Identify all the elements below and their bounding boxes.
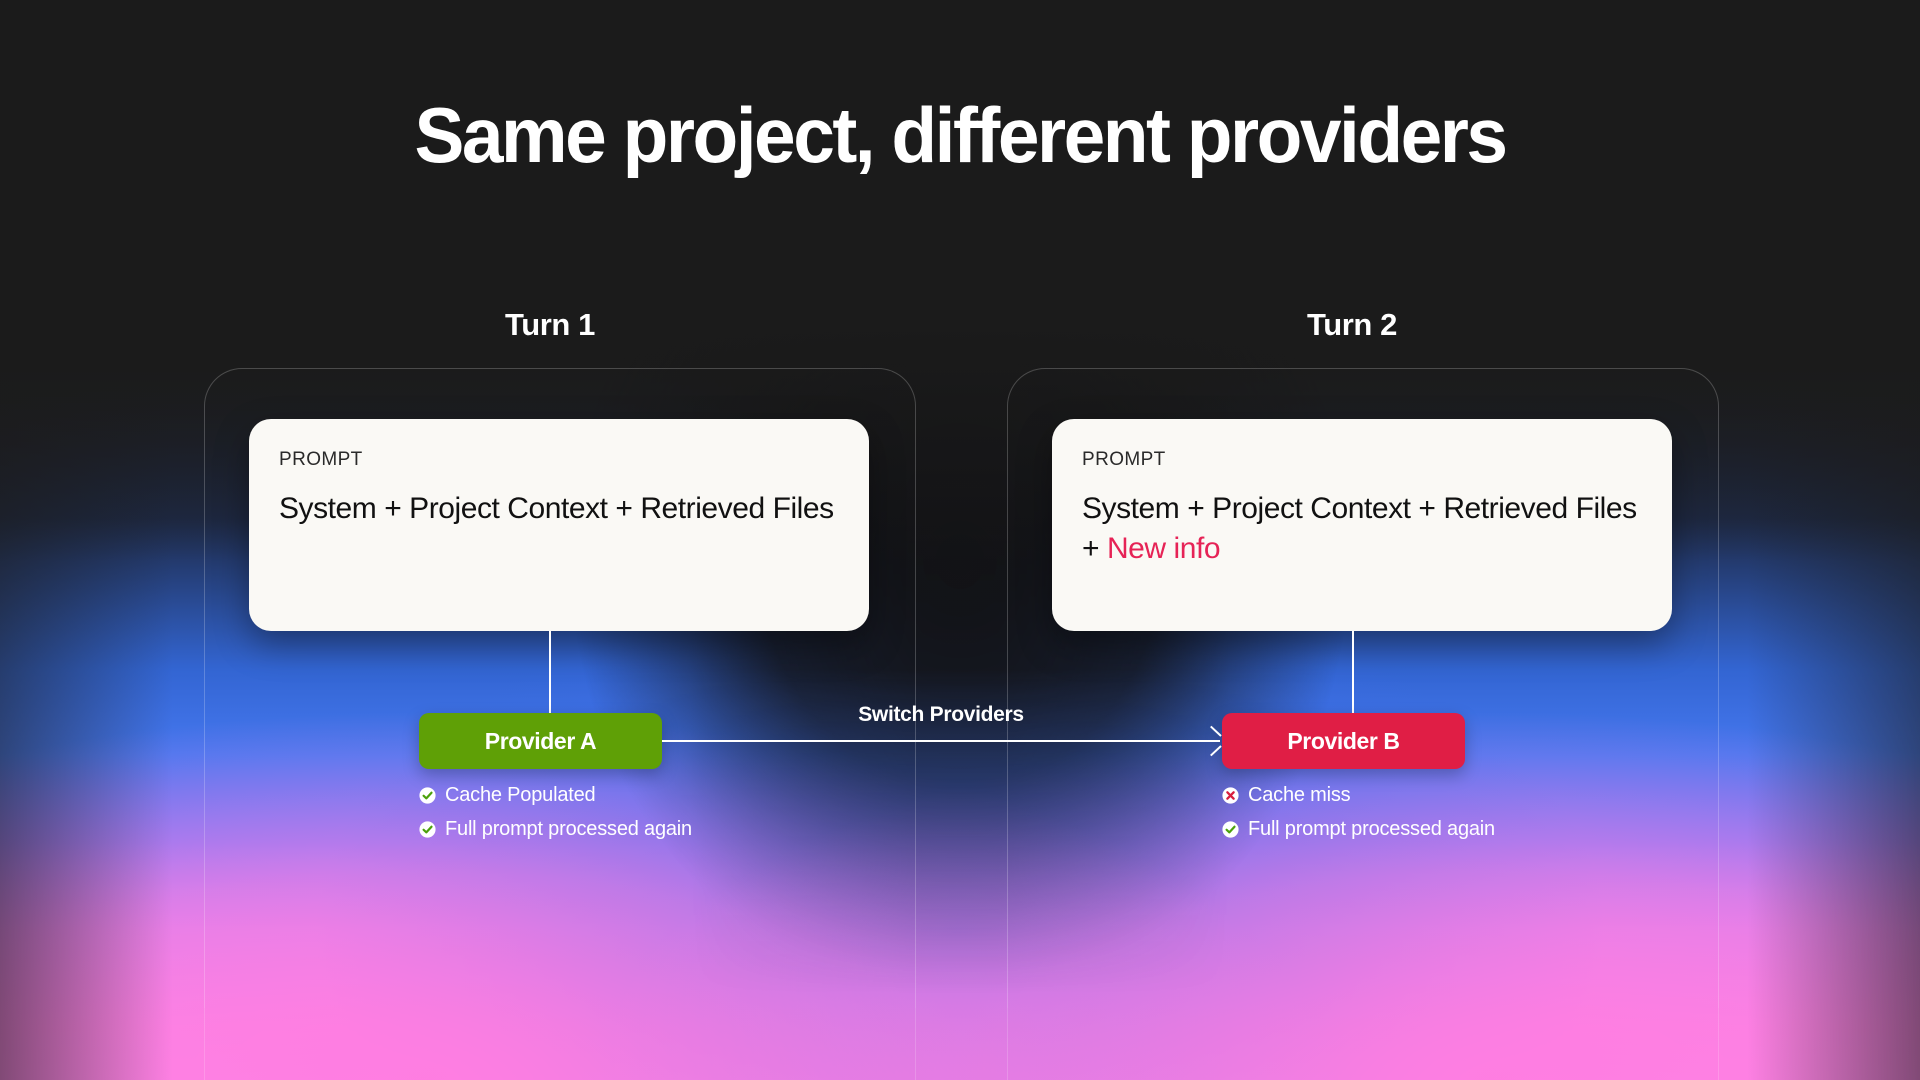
turn-1-label: Turn 1 [400, 307, 700, 343]
page-title: Same project, different providers [38, 96, 1881, 176]
arrow-down-icon-turn-2 [1344, 631, 1362, 715]
provider-b-pill[interactable]: Provider B [1222, 713, 1465, 769]
turn-1-container-edge-right [915, 1008, 916, 1080]
status-label: Cache miss [1248, 785, 1350, 805]
status-list-turn-2: Cache miss Full prompt processed again [1222, 785, 1495, 853]
arrow-down-icon-turn-1 [541, 631, 559, 715]
prompt-body-line-1: System + Project Context + Retrieved [1082, 492, 1568, 525]
prompt-card-turn-2: PROMPT System + Project Context + Retrie… [1052, 419, 1672, 631]
check-circle-icon [1222, 821, 1239, 838]
check-circle-icon [419, 787, 436, 804]
prompt-kicker: PROMPT [279, 449, 839, 471]
status-label: Cache Populated [445, 785, 595, 805]
switch-providers-label: Switch Providers [662, 703, 1220, 727]
turn-2-container-edge-right [1718, 1008, 1719, 1080]
arrow-right-icon-switch-providers [662, 740, 1220, 742]
status-label: Full prompt processed again [1248, 819, 1495, 839]
check-circle-icon [419, 821, 436, 838]
prompt-body: System + Project Context + Retrieved Fil… [1082, 489, 1642, 569]
provider-a-label: Provider A [485, 728, 596, 755]
turn-1-container-edge-left [204, 1008, 205, 1080]
status-list-turn-1: Cache Populated Full prompt processed ag… [419, 785, 692, 853]
prompt-body-line-1: System + Project Context + Retrieved [279, 492, 765, 525]
prompt-body-line-2: Files [773, 492, 834, 525]
prompt-body: System + Project Context + Retrieved Fil… [279, 489, 839, 529]
status-label: Full prompt processed again [445, 819, 692, 839]
turn-2-container-edge-left [1007, 1008, 1008, 1080]
prompt-card-turn-1: PROMPT System + Project Context + Retrie… [249, 419, 869, 631]
prompt-kicker: PROMPT [1082, 449, 1642, 471]
status-item: Full prompt processed again [1222, 819, 1495, 839]
status-item: Cache Populated [419, 785, 692, 805]
status-item: Cache miss [1222, 785, 1495, 805]
provider-b-label: Provider B [1287, 728, 1399, 755]
turn-2-label: Turn 2 [1202, 307, 1502, 343]
prompt-body-new-info-accent: New info [1107, 532, 1220, 565]
x-circle-icon [1222, 787, 1239, 804]
provider-a-pill[interactable]: Provider A [419, 713, 662, 769]
status-item: Full prompt processed again [419, 819, 692, 839]
